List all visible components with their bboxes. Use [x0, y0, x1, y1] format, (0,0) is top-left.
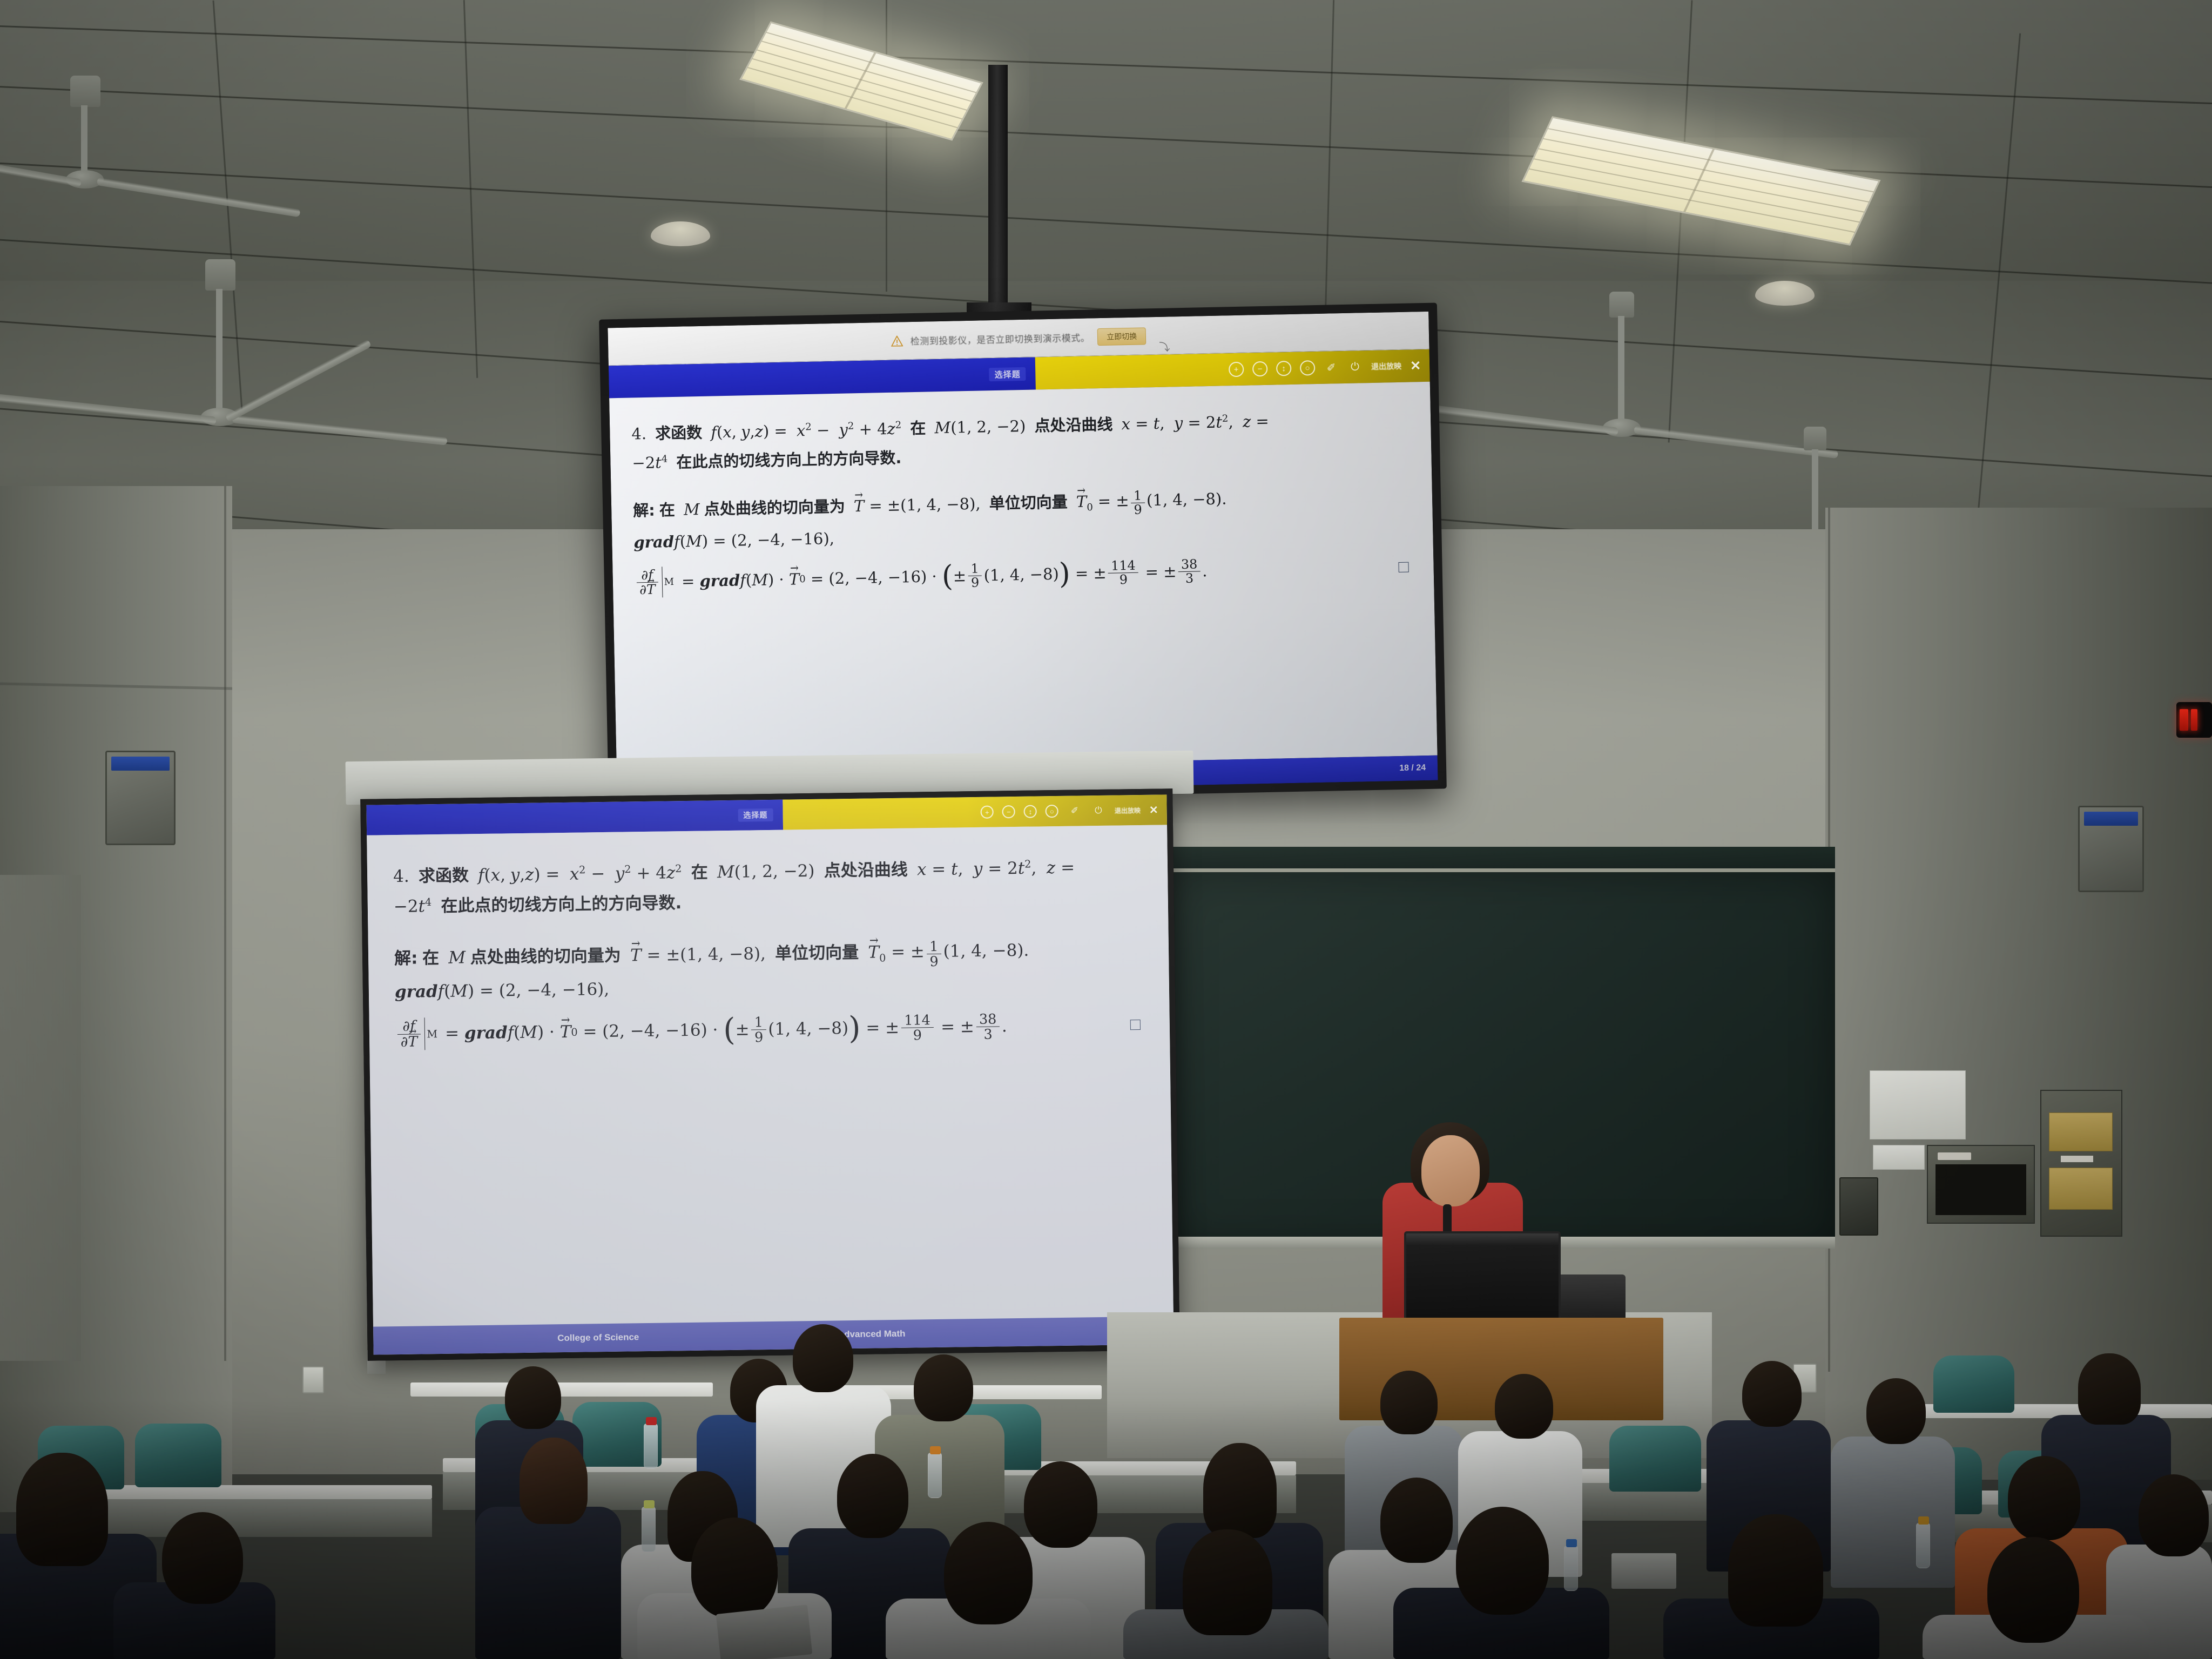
student-head	[520, 1438, 588, 1524]
water-bottle	[928, 1453, 942, 1498]
close-icon: ✕	[1149, 803, 1158, 817]
zoom-out-icon: −	[1002, 805, 1015, 818]
projected-slide: 选择题 + − ↕ ○ ✐ ⏻ 退出放映 ✕ 4. 求函数	[366, 794, 1174, 1354]
student-head	[2008, 1456, 2080, 1540]
control-panel-label	[2084, 812, 2138, 826]
student-head-foreground	[1987, 1537, 2079, 1643]
pen-icon: ✐	[1067, 803, 1082, 818]
lectern-monitor	[1404, 1231, 1561, 1323]
control-panel-label	[111, 757, 170, 771]
student-head	[1495, 1374, 1553, 1439]
water-bottle	[644, 1424, 658, 1469]
footer-page-number: 18 / 24	[1399, 763, 1426, 773]
power-icon: ⏻	[1091, 803, 1106, 818]
fit-width-icon: ↕	[1024, 805, 1037, 818]
laptop-screen	[716, 1604, 813, 1659]
projection-screen[interactable]: 选择题 + − ↕ ○ ✐ ⏻ 退出放映 ✕ 4. 求函数	[360, 788, 1179, 1361]
desk-surface	[410, 1382, 713, 1397]
projected-slide-toolbar: + − ↕ ○ ✐ ⏻ 退出放映 ✕	[783, 794, 1167, 829]
wall-seam	[224, 486, 226, 1361]
student-head-foreground	[1728, 1514, 1823, 1627]
student-head-foreground	[944, 1522, 1033, 1624]
student-head	[914, 1354, 973, 1421]
led-digit	[2191, 709, 2197, 731]
student-head	[1203, 1443, 1277, 1538]
ceiling-fan-mount-3	[1609, 292, 1634, 318]
projected-solution-final: ∂f ∂T M = gradf(M) · T0 = (2, −4, −16) ·…	[395, 1000, 1141, 1060]
projected-header-blue: 选择题	[366, 800, 783, 835]
fit-width-icon[interactable]: ↕	[1276, 361, 1292, 376]
qed-box	[1130, 1020, 1141, 1030]
monitor-screen: 检测到投影仪，是否立即切换到演示模式。 立即切换 ⤵ 选择题 + − ↕ ○ ✐…	[608, 312, 1438, 797]
zoom-in-icon: +	[981, 806, 994, 819]
pen-icon[interactable]: ✐	[1324, 360, 1339, 375]
ceiling-upper	[0, 0, 2212, 302]
student-torso	[1831, 1437, 1955, 1588]
tablet-device	[1611, 1553, 1676, 1589]
zoom-in-icon[interactable]: +	[1229, 362, 1244, 377]
close-icon[interactable]: ✕	[1410, 358, 1421, 374]
zoom-out-icon[interactable]: −	[1252, 361, 1268, 377]
student-head	[793, 1324, 853, 1392]
electrical-box-large	[2040, 1090, 2122, 1237]
lecturer-head	[1421, 1135, 1480, 1206]
student-head	[837, 1454, 908, 1538]
student-head-foreground	[1456, 1507, 1549, 1615]
wall-poster	[1870, 1070, 1966, 1139]
student-head	[505, 1366, 561, 1429]
wall-speaker	[1839, 1177, 1878, 1236]
lecture-hall-photo: 检测到投影仪，是否立即切换到演示模式。 立即切换 ⤵ 选择题 + − ↕ ○ ✐…	[0, 0, 2212, 1659]
student-head	[1380, 1371, 1438, 1434]
student-head	[2078, 1353, 2141, 1425]
fit-page-icon[interactable]: ○	[1300, 360, 1316, 376]
student-head	[1866, 1378, 1926, 1444]
student-head	[1742, 1361, 1802, 1427]
chalkboard-upper-panel	[1172, 847, 1835, 871]
ceiling-grid-line	[886, 0, 887, 292]
left-wall-panel	[0, 875, 81, 1361]
right-wall	[1825, 508, 2212, 1480]
ceiling-fan-mount-4	[1804, 427, 1826, 450]
wall-notice	[1873, 1145, 1925, 1170]
ceiling-fan-mount-1	[205, 259, 235, 291]
monitor-mount-pole	[988, 65, 1008, 319]
wall-control-panel-left[interactable]	[105, 751, 176, 845]
student-torso	[475, 1507, 621, 1659]
dome-light-left	[651, 221, 710, 246]
electrical-box-small	[1927, 1145, 2035, 1224]
auditorium-seat[interactable]	[135, 1424, 221, 1487]
student-head-foreground	[16, 1453, 108, 1566]
student-head-foreground	[162, 1512, 243, 1604]
auditorium-seat[interactable]	[1933, 1355, 2014, 1413]
auditorium-seat[interactable]	[1609, 1426, 1701, 1492]
student-head	[1380, 1478, 1453, 1563]
water-bottle	[642, 1507, 656, 1552]
fit-page-icon: ○	[1046, 805, 1058, 818]
wall-control-panel-right[interactable]	[2078, 806, 2144, 892]
projected-exit-label: 退出放映	[1115, 805, 1141, 815]
overhead-monitor[interactable]: 检测到投影仪，是否立即切换到演示模式。 立即切换 ⤵ 选择题 + − ↕ ○ ✐…	[599, 303, 1447, 806]
qed-box	[1398, 562, 1408, 572]
student-head-foreground	[1183, 1529, 1272, 1635]
projected-slide-content: 4. 求函数 f(x, y,z) = x2 − y2 + 4z2 在 M(1, …	[367, 825, 1174, 1326]
notification-message: 检测到投影仪，是否立即切换到演示模式。	[911, 330, 1090, 347]
led-digit	[2180, 709, 2188, 731]
wall-outlet	[302, 1366, 324, 1393]
water-bottle	[1916, 1523, 1930, 1568]
ceiling-fan-rod-3	[1618, 316, 1624, 424]
mouse-cursor: ⤵	[1159, 338, 1170, 354]
ceiling-fan-mount-2	[70, 76, 100, 107]
projected-footer-college: College of Science	[557, 1332, 639, 1344]
dome-light-right	[1755, 281, 1815, 306]
exit-presentation-label[interactable]: 退出放映	[1371, 361, 1401, 372]
student-head-foreground	[691, 1518, 778, 1618]
projected-question-type-badge: 选择题	[738, 808, 773, 822]
student-head	[1024, 1461, 1097, 1548]
water-bottle	[1564, 1546, 1578, 1591]
slide-content: 4. 求函数 f(x, y,z) = x2 − y2 + 4z2 在 M(1, …	[609, 382, 1438, 772]
warning-triangle-icon	[891, 335, 903, 346]
ceiling-fan-rod-2	[81, 105, 87, 176]
power-icon[interactable]: ⏻	[1347, 359, 1363, 375]
led-clock-display	[2176, 702, 2212, 738]
student-head	[2139, 1474, 2209, 1556]
notification-action-button[interactable]: 立即切换	[1097, 327, 1147, 346]
question-type-badge[interactable]: 选择题	[989, 367, 1026, 381]
ceiling-fan-rod-1	[216, 289, 222, 413]
